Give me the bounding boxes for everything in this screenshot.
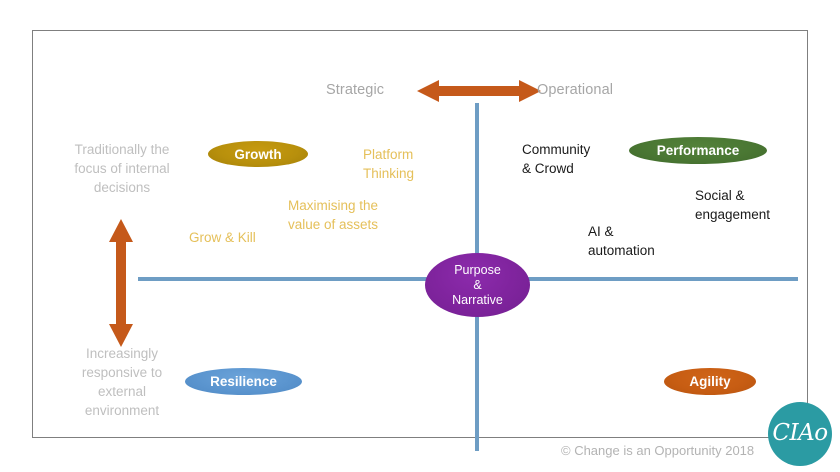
item-maximising-line2: value of assets	[288, 215, 378, 234]
core-line-2: &	[473, 278, 481, 293]
item-ai-line2: automation	[588, 241, 655, 260]
item-platform-thinking-line1: Platform	[363, 145, 414, 164]
item-grow-kill-line1: Grow & Kill	[189, 228, 256, 247]
item-community-line2: & Crowd	[522, 159, 590, 178]
vertical-double-arrow-icon	[108, 219, 134, 347]
pill-agility[interactable]: Agility	[664, 368, 756, 395]
item-social-and-engagement: Social & engagement	[695, 186, 770, 224]
note-external-environment: Increasingly responsive to external envi…	[67, 344, 177, 420]
core-line-3: Narrative	[452, 293, 503, 308]
item-community-and-crowd: Community & Crowd	[522, 140, 590, 178]
pill-performance[interactable]: Performance	[629, 137, 767, 164]
item-maximising-value-of-assets: Maximising the value of assets	[288, 196, 378, 234]
axis-label-strategic: Strategic	[326, 82, 384, 98]
core-ellipse-purpose-narrative[interactable]: Purpose & Narrative	[425, 253, 530, 317]
note-internal-decisions: Traditionally the focus of internal deci…	[67, 140, 177, 197]
item-social-line2: engagement	[695, 205, 770, 224]
ciao-logo[interactable]: CIAo	[768, 402, 832, 466]
item-social-line1: Social &	[695, 186, 770, 205]
item-community-line1: Community	[522, 140, 590, 159]
item-ai-line1: AI &	[588, 222, 655, 241]
slide-frame: Strategic Operational Traditionally the …	[32, 30, 808, 438]
footer-copyright: © Change is an Opportunity 2018	[561, 443, 754, 458]
pill-resilience[interactable]: Resilience	[185, 368, 302, 395]
item-maximising-line1: Maximising the	[288, 196, 378, 215]
ciao-logo-text: CIAo	[772, 422, 827, 445]
item-platform-thinking: Platform Thinking	[363, 145, 414, 183]
item-platform-thinking-line2: Thinking	[363, 164, 414, 183]
item-ai-and-automation: AI & automation	[588, 222, 655, 260]
horizontal-double-arrow-icon	[417, 79, 541, 103]
pill-growth[interactable]: Growth	[208, 141, 308, 167]
item-grow-and-kill: Grow & Kill	[189, 228, 256, 247]
axis-label-operational: Operational	[537, 82, 613, 98]
core-line-1: Purpose	[454, 263, 501, 278]
